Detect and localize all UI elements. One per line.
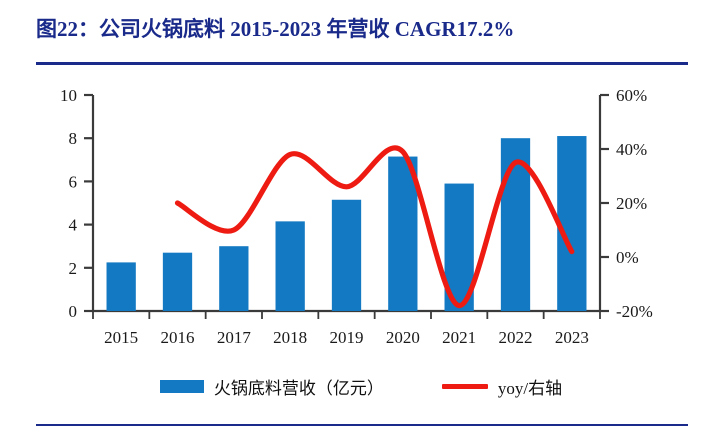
bar-2018 (276, 221, 305, 311)
bar-2015 (107, 262, 136, 311)
x-axis-tick-label: 2020 (386, 328, 420, 347)
left-axis-tick-label: 4 (69, 216, 78, 235)
left-axis-tick-label: 10 (60, 86, 77, 105)
left-axis-tick-label: 6 (69, 172, 78, 191)
right-axis-tick-label: 40% (616, 140, 647, 159)
legend-label-yoy: yoy/右轴 (498, 374, 562, 399)
legend-bar-swatch-icon (160, 380, 204, 393)
x-axis-tick-label: 2017 (217, 328, 252, 347)
x-axis-tick-label: 2016 (161, 328, 195, 347)
bottom-divider (36, 424, 688, 426)
page-title: 图22：公司火锅底料 2015-2023 年营收 CAGR17.2% (36, 14, 696, 44)
chart-plot-area: 0246810-20%0%20%40%60%201520162017201820… (0, 70, 722, 360)
right-axis-tick-label: 0% (616, 248, 639, 267)
x-axis-tick-label: 2018 (273, 328, 307, 347)
chart-legend: 火锅底料营收（亿元） yoy/右轴 (0, 366, 722, 406)
legend-item-revenue: 火锅底料营收（亿元） (160, 374, 384, 399)
combo-bar-line-chart: 0246810-20%0%20%40%60%201520162017201820… (0, 70, 722, 360)
left-axis-tick-label: 2 (69, 259, 78, 278)
x-axis-tick-label: 2019 (330, 328, 364, 347)
figure-title-block: 图22：公司火锅底料 2015-2023 年营收 CAGR17.2% (36, 14, 696, 60)
bar-2023 (557, 136, 586, 311)
x-axis-tick-label: 2023 (555, 328, 589, 347)
left-axis-tick-label: 8 (69, 129, 78, 148)
bar-2019 (332, 200, 361, 311)
x-axis-tick-label: 2015 (104, 328, 138, 347)
bar-2017 (219, 246, 248, 311)
right-axis-tick-label: 60% (616, 86, 647, 105)
right-axis-tick-label: -20% (616, 302, 653, 321)
figure-page: 图22：公司火锅底料 2015-2023 年营收 CAGR17.2% 02468… (0, 0, 722, 436)
x-axis-tick-label: 2022 (499, 328, 533, 347)
left-axis-tick-label: 0 (69, 302, 78, 321)
title-divider (36, 62, 688, 65)
bar-2016 (163, 253, 192, 311)
legend-line-swatch-icon (442, 384, 488, 389)
x-axis-tick-label: 2021 (442, 328, 476, 347)
legend-item-yoy: yoy/右轴 (442, 374, 562, 399)
right-axis-tick-label: 20% (616, 194, 647, 213)
legend-label-revenue: 火锅底料营收（亿元） (214, 374, 384, 399)
